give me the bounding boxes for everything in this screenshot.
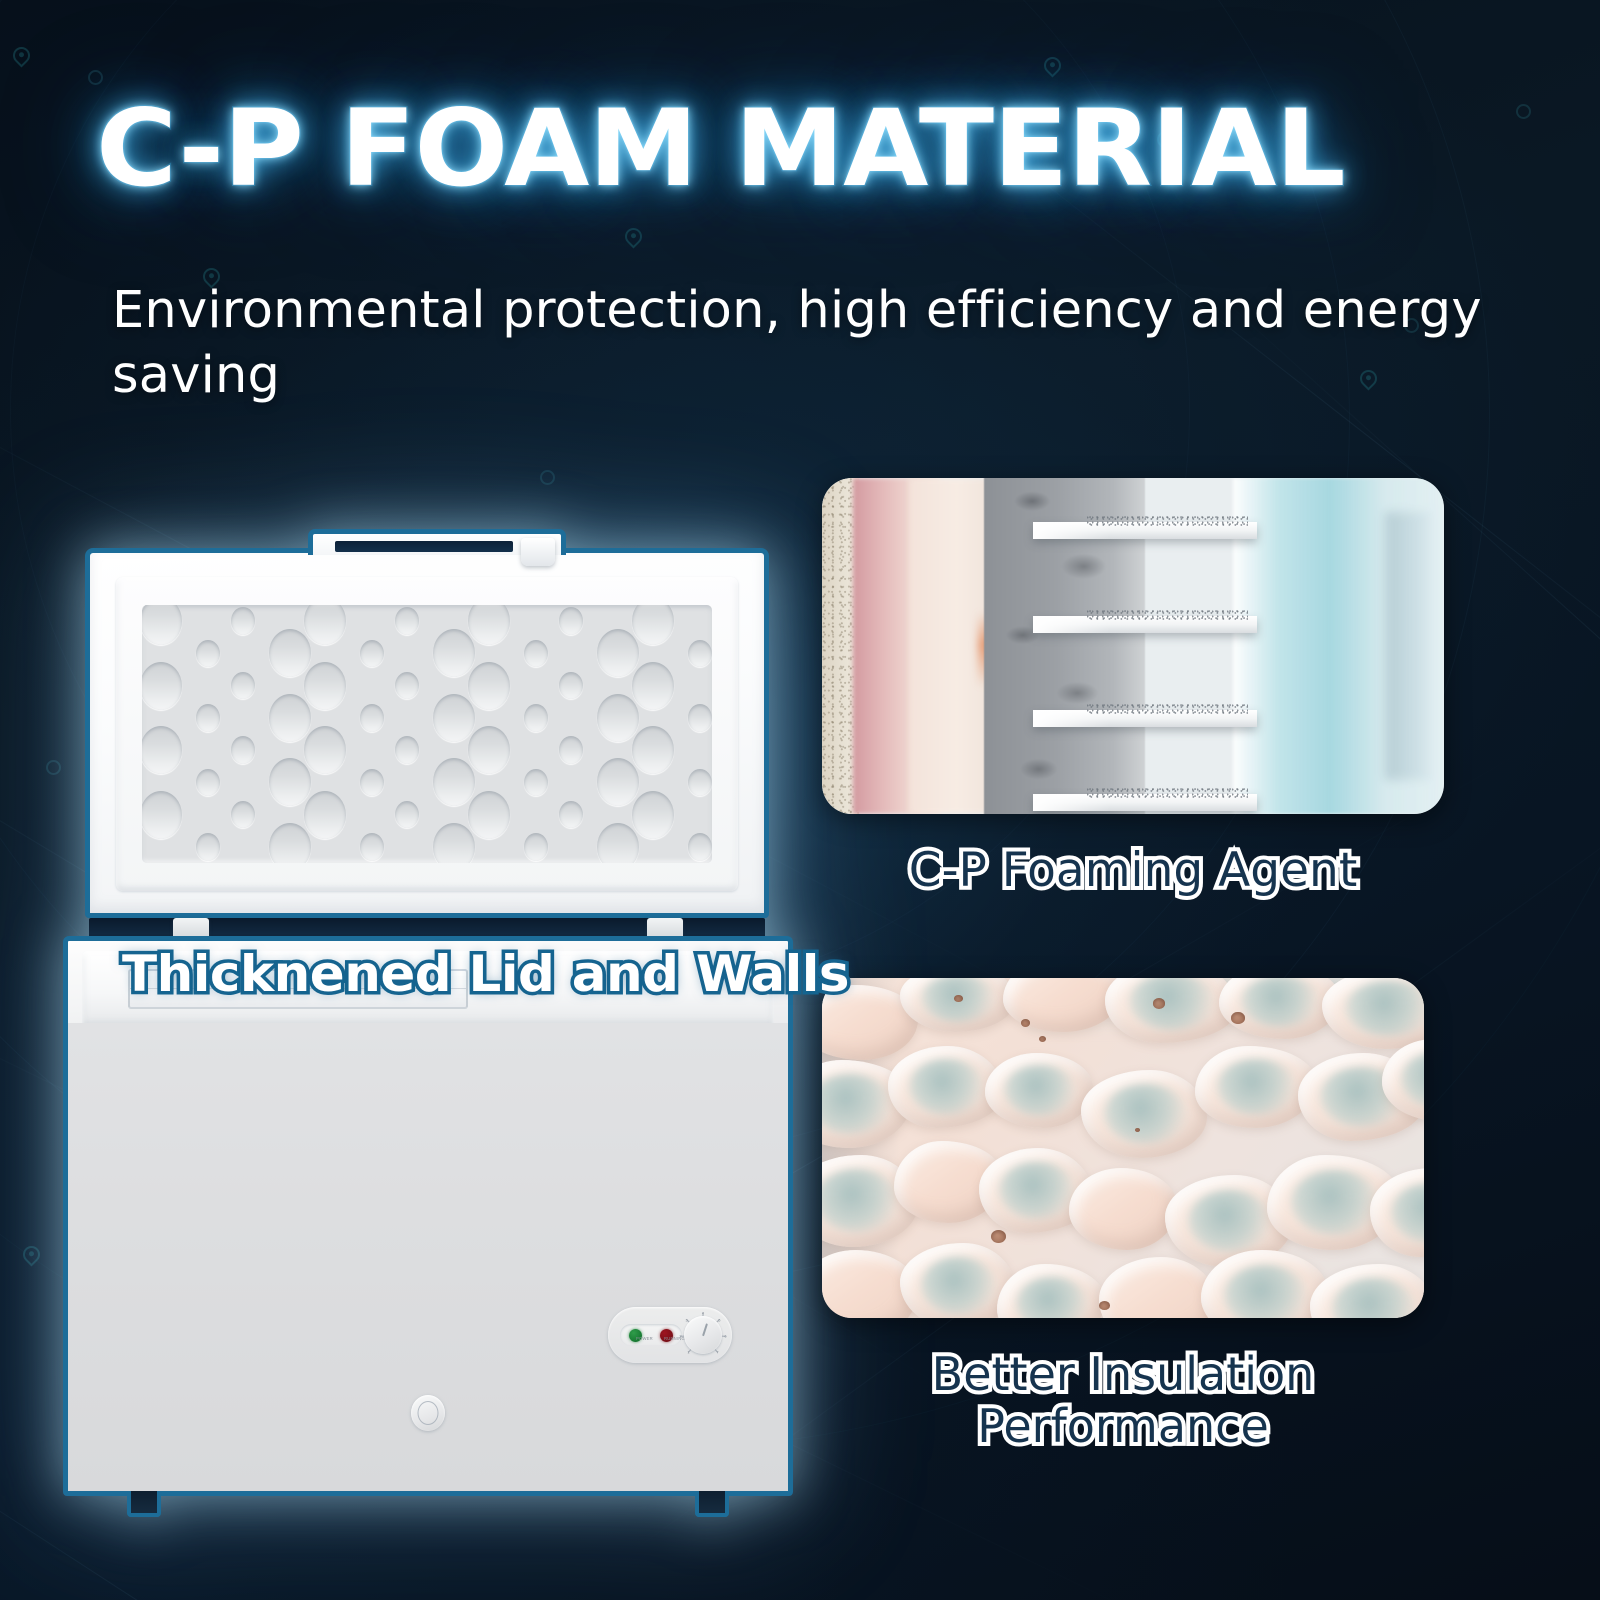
led-indicator-group: POWER RUNNING bbox=[620, 1324, 682, 1346]
card-foaming-agent-image bbox=[822, 478, 1444, 814]
lid-dimple bbox=[231, 607, 255, 634]
lid-dimple bbox=[231, 801, 255, 828]
dial-number: 2 bbox=[679, 1334, 681, 1339]
freezer-lid bbox=[85, 548, 769, 918]
lid-inner-panel bbox=[142, 605, 712, 863]
thermostat-dial[interactable]: 1234567 bbox=[684, 1316, 722, 1354]
lid-dimple bbox=[395, 801, 419, 828]
lid-dimple bbox=[142, 662, 182, 710]
freezer-cabinet: POWER RUNNING 1234567 bbox=[63, 936, 793, 1496]
lid-dimple bbox=[632, 791, 674, 839]
lid-dimple bbox=[632, 726, 674, 774]
caption-glow bbox=[768, 1322, 1478, 1479]
foam-cell bbox=[985, 1053, 1093, 1128]
xsec-blade-2 bbox=[1033, 616, 1257, 633]
lid-outer-frame bbox=[116, 577, 738, 891]
foam-cell bbox=[1069, 1168, 1177, 1250]
lid-dimple bbox=[468, 791, 510, 839]
chest-freezer-illustration: POWER RUNNING 1234567 bbox=[63, 520, 793, 1530]
lid-dimple bbox=[688, 833, 712, 860]
lid-dimple-pattern bbox=[142, 605, 712, 863]
xsec-blade-4 bbox=[1033, 794, 1257, 811]
cabinet-front-face: POWER RUNNING 1234567 bbox=[68, 1023, 788, 1491]
foam-cell bbox=[1195, 1046, 1315, 1128]
promo-banner: C-P FOAM MATERIAL Environmental protecti… bbox=[0, 0, 1600, 1600]
lid-dimple bbox=[142, 726, 182, 774]
lid-dimple bbox=[269, 758, 311, 806]
dial-pointer-icon bbox=[702, 1323, 708, 1336]
lid-dimple bbox=[269, 694, 311, 742]
lid-dimple bbox=[597, 823, 639, 863]
lid-dimple bbox=[433, 629, 475, 677]
page-subtitle: Environmental protection, high efficienc… bbox=[112, 278, 1600, 409]
lid-dimple bbox=[559, 607, 583, 634]
caption-foaming-agent: C-P Foaming Agent bbox=[822, 844, 1444, 898]
lid-dimple bbox=[196, 640, 220, 667]
lid-dimple bbox=[597, 694, 639, 742]
caption-insulation-performance: Better Insulation Performance bbox=[822, 1348, 1424, 1453]
xsec-blade-3 bbox=[1033, 710, 1257, 727]
lid-dimple bbox=[269, 823, 311, 863]
lid-dimple bbox=[360, 769, 384, 796]
foam-pore bbox=[1231, 1012, 1244, 1024]
caption-glow bbox=[766, 831, 1500, 911]
lid-dimple bbox=[196, 769, 220, 796]
lid-dimple bbox=[433, 823, 475, 863]
drain-plug-cap[interactable] bbox=[411, 1395, 445, 1431]
lid-dimple bbox=[360, 833, 384, 860]
led-red-label: RUNNING bbox=[664, 1336, 685, 1341]
lid-latch-icon[interactable] bbox=[521, 538, 555, 566]
lid-handle[interactable] bbox=[335, 541, 513, 552]
cross-section-illustration bbox=[822, 478, 1444, 814]
lid-dimple bbox=[468, 605, 510, 645]
dial-number: 5 bbox=[718, 1317, 720, 1322]
lid-dimple bbox=[688, 640, 712, 667]
lid-dimple bbox=[468, 726, 510, 774]
lid-dimple bbox=[688, 704, 712, 731]
lid-dimple bbox=[524, 640, 548, 667]
lid-dimple bbox=[142, 791, 182, 839]
led-green-label: POWER bbox=[636, 1336, 653, 1341]
xsec-blade-1 bbox=[1033, 522, 1257, 539]
dial-number: 1 bbox=[687, 1350, 689, 1355]
freezer-feature-label: Thicknened Lid and Walls bbox=[122, 945, 849, 1003]
foam-pore bbox=[991, 1230, 1007, 1244]
freezer-foot-right bbox=[695, 1491, 729, 1517]
lid-dimple bbox=[559, 801, 583, 828]
lid-dimple bbox=[142, 605, 182, 645]
lid-dimple bbox=[524, 704, 548, 731]
card-insulation-image bbox=[822, 978, 1424, 1318]
lid-dimple bbox=[632, 605, 674, 645]
xsec-cyan-layer bbox=[1233, 478, 1444, 814]
lid-dimple bbox=[524, 833, 548, 860]
lid-dimple bbox=[433, 758, 475, 806]
freezer-foot-left bbox=[127, 1491, 161, 1517]
lid-dimple bbox=[524, 769, 548, 796]
dial-number: 4 bbox=[702, 1310, 704, 1315]
page-title: C-P FOAM MATERIAL bbox=[96, 92, 1345, 205]
lid-dimple bbox=[632, 662, 674, 710]
lid-dimple bbox=[304, 662, 346, 710]
lid-dimple bbox=[468, 662, 510, 710]
dial-number: 7 bbox=[716, 1350, 718, 1355]
lid-dimple bbox=[395, 607, 419, 634]
dial-number: 6 bbox=[724, 1334, 726, 1339]
foam-pore bbox=[1039, 1036, 1046, 1042]
lid-dimple bbox=[304, 726, 346, 774]
foam-cell bbox=[1081, 1070, 1207, 1158]
foam-cell-illustration bbox=[822, 978, 1424, 1318]
lid-top-edge bbox=[308, 529, 566, 555]
lid-dimple bbox=[559, 736, 583, 763]
foam-cell bbox=[1310, 1264, 1424, 1318]
lid-dimple bbox=[196, 704, 220, 731]
foam-cell bbox=[1322, 978, 1424, 1049]
lid-dimple bbox=[395, 736, 419, 763]
lid-dimple bbox=[196, 833, 220, 860]
lid-dimple bbox=[304, 605, 346, 645]
foam-pore bbox=[954, 995, 962, 1002]
lid-dimple bbox=[360, 704, 384, 731]
lid-dimple bbox=[433, 694, 475, 742]
lid-dimple bbox=[597, 629, 639, 677]
lid-dimple bbox=[269, 629, 311, 677]
foam-pore bbox=[1099, 1301, 1110, 1310]
lid-dimple bbox=[231, 672, 255, 699]
lid-dimple bbox=[688, 769, 712, 796]
lid-dimple bbox=[231, 736, 255, 763]
control-panel[interactable]: POWER RUNNING 1234567 bbox=[608, 1307, 732, 1363]
lid-dimple bbox=[559, 672, 583, 699]
foam-pore bbox=[1021, 1019, 1031, 1027]
lid-dimple bbox=[395, 672, 419, 699]
foam-pore bbox=[1153, 998, 1165, 1008]
lid-dimple bbox=[360, 640, 384, 667]
lid-dimple bbox=[597, 758, 639, 806]
foam-cell bbox=[997, 1264, 1105, 1318]
lid-dimple bbox=[304, 791, 346, 839]
dial-number: 3 bbox=[686, 1317, 688, 1322]
